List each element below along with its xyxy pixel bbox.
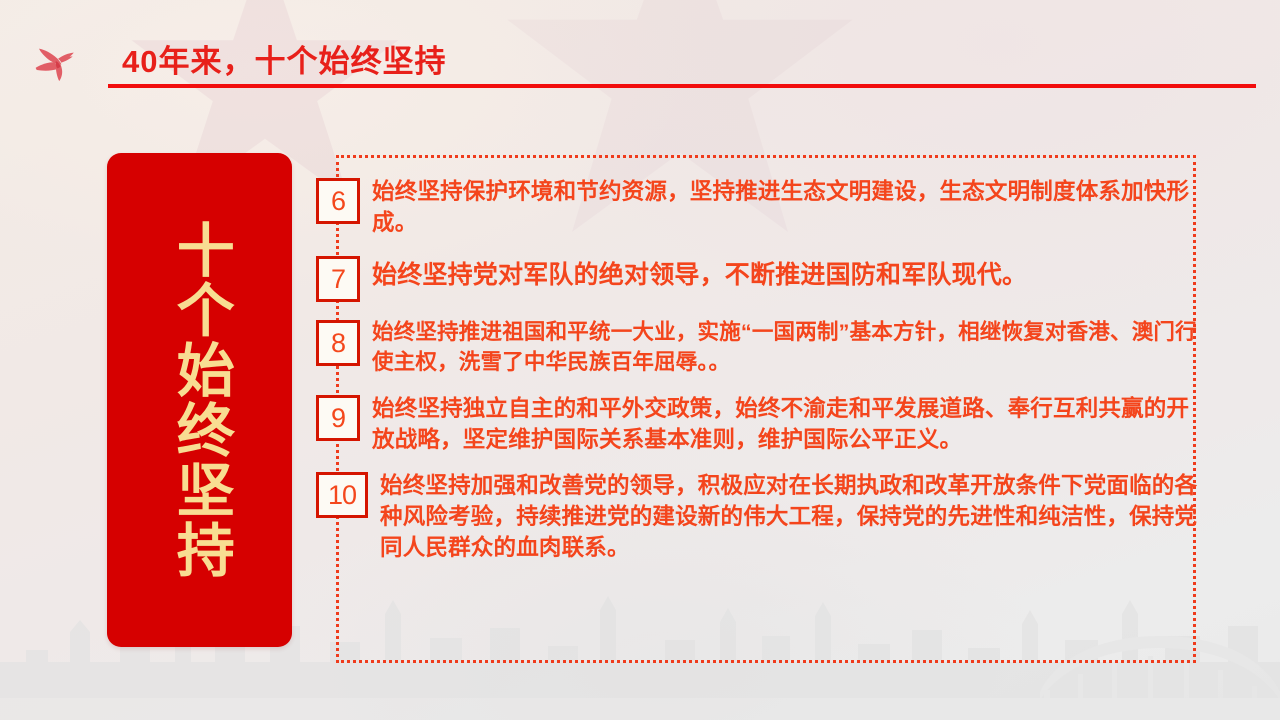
slide-canvas: 40年来，十个始终坚持 十个始终坚持 6 始终坚持保护环境和节约资源，坚持推进生… (0, 0, 1280, 720)
list-item[interactable]: 6 始终坚持保护环境和节约资源，坚持推进生态文明建设，生态文明制度体系加快形成。 (336, 176, 1206, 238)
list-item-number: 6 (316, 178, 360, 224)
list-item-number: 8 (316, 320, 360, 366)
list-item-number: 10 (316, 472, 368, 518)
list-item-number: 9 (316, 395, 360, 441)
header-divider (108, 84, 1256, 88)
list-item-number: 7 (316, 256, 360, 302)
list-item-text: 始终坚持保护环境和节约资源，坚持推进生态文明建设，生态文明制度体系加快形成。 (372, 176, 1206, 238)
list-item-text: 始终坚持加强和改善党的领导，积极应对在长期执政和改革开放条件下党面临的各种风险考… (380, 470, 1206, 563)
list-item-text: 始终坚持推进祖国和平统一大业，实施“一国两制”基本方针，相继恢复对香港、澳门行使… (372, 318, 1206, 377)
slide-header: 40年来，十个始终坚持 (0, 0, 1280, 100)
list-item-text: 始终坚持独立自主的和平外交政策，始终不渝走和平发展道路、奉行互利共赢的开放战略，… (372, 393, 1206, 455)
vertical-banner-label: 十个始终坚持 (159, 220, 240, 580)
list-item[interactable]: 7 始终坚持党对军队的绝对领导，不断推进国防和军队现代。 (336, 254, 1206, 302)
page-title: 40年来，十个始终坚持 (122, 36, 446, 81)
vertical-banner: 十个始终坚持 (107, 153, 292, 647)
principles-list: 6 始终坚持保护环境和节约资源，坚持推进生态文明建设，生态文明制度体系加快形成。… (336, 176, 1206, 563)
list-item[interactable]: 8 始终坚持推进祖国和平统一大业，实施“一国两制”基本方针，相继恢复对香港、澳门… (336, 318, 1206, 377)
list-item[interactable]: 9 始终坚持独立自主的和平外交政策，始终不渝走和平发展道路、奉行互利共赢的开放战… (336, 393, 1206, 455)
dove-icon (26, 33, 88, 89)
list-item-text: 始终坚持党对军队的绝对领导，不断推进国防和军队现代。 (372, 258, 1206, 293)
list-item[interactable]: 10 始终坚持加强和改善党的领导，积极应对在长期执政和改革开放条件下党面临的各种… (336, 470, 1206, 563)
